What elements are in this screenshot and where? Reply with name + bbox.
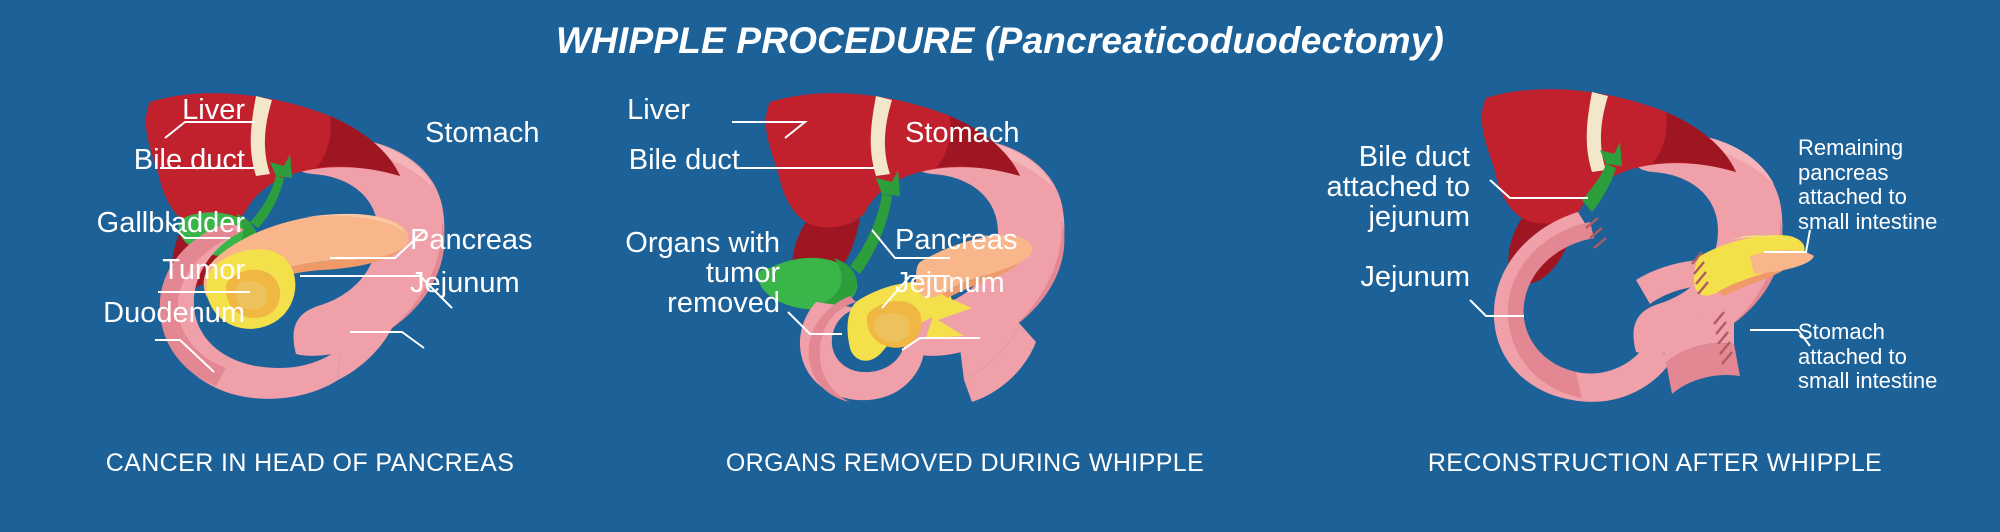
panel-cancer-in-head-of-pancreas: Liver Bile duct Gallbladder Tumor Duoden…: [0, 80, 620, 500]
label-stomach-attached-to-small-intestine: Stomach attached to small intestine: [1798, 320, 2000, 394]
label-stomach: Stomach: [425, 118, 625, 148]
label-duodenum: Duodenum: [30, 298, 245, 328]
panel-caption: RECONSTRUCTION AFTER WHIPPLE: [1310, 449, 2000, 478]
label-bile-duct: Bile duct: [620, 145, 740, 175]
label-organs-with-tumor-removed: Organs with tumor removed: [580, 228, 780, 318]
label-stomach: Stomach: [905, 118, 1105, 148]
panel-reconstruction-after-whipple: Bile duct attached to jejunum Jejunum Re…: [1310, 80, 2000, 500]
panel-caption: ORGANS REMOVED DURING WHIPPLE: [620, 449, 1310, 478]
label-bile-duct-attached-to-jejunum: Bile duct attached to jejunum: [1290, 142, 1470, 232]
label-gallbladder: Gallbladder: [30, 208, 245, 238]
diagram-canvas: WHIPPLE PROCEDURE (Pancreaticoduodectomy…: [0, 0, 2000, 532]
label-liver: Liver: [620, 95, 690, 125]
label-tumor: Tumor: [35, 255, 245, 285]
page-title: WHIPPLE PROCEDURE (Pancreaticoduodectomy…: [0, 20, 2000, 62]
label-bile-duct: Bile duct: [10, 145, 245, 175]
label-jejunum: Jejunum: [895, 268, 1095, 298]
panel-organs-removed-during-whipple: Liver Bile duct Organs with tumor remove…: [620, 80, 1310, 500]
label-liver: Liver: [75, 95, 245, 125]
label-remaining-pancreas-attached-to-small-intestine: Remaining pancreas attached to small int…: [1798, 136, 2000, 235]
panel-caption: CANCER IN HEAD OF PANCREAS: [0, 449, 620, 478]
label-pancreas: Pancreas: [895, 225, 1095, 255]
label-jejunum: Jejunum: [1290, 262, 1470, 292]
